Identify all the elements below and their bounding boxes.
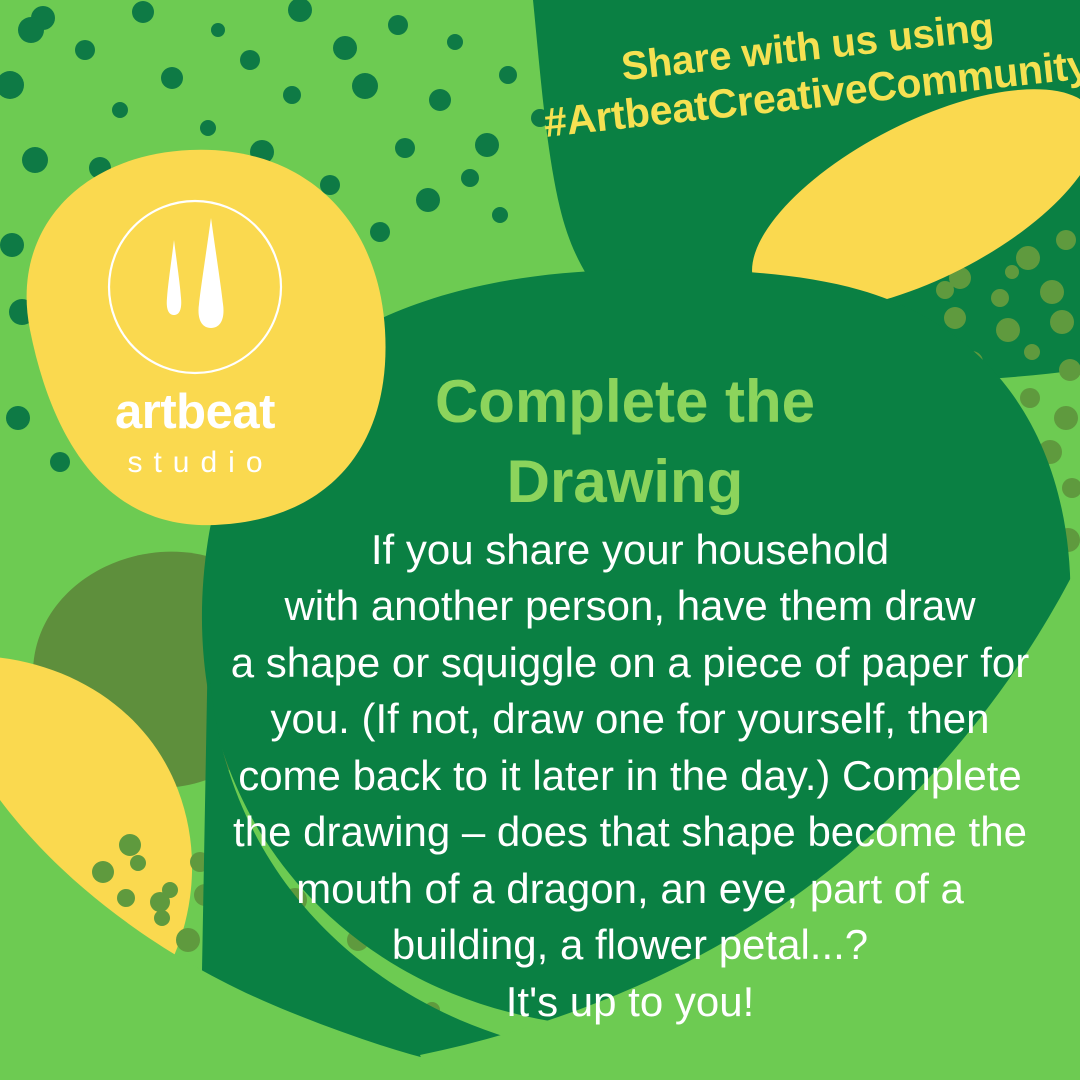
brush-tip-large	[199, 218, 224, 328]
page-title: Complete the Drawing	[330, 362, 920, 522]
brush-tip-small	[167, 240, 181, 315]
body-line: you. (If not, draw one for yourself, the…	[225, 691, 1035, 747]
logo-circle-outline	[109, 201, 281, 373]
page-title-line-1: Complete the	[330, 362, 920, 442]
body-line: If you share your household	[225, 522, 1035, 578]
share-hashtag-block: Share with us using #ArtbeatCreativeComm…	[536, 0, 1080, 148]
body-line: the drawing – does that shape become the	[225, 804, 1035, 860]
body-line: come back to it later in the day.) Compl…	[225, 748, 1035, 804]
brush-tips-icon	[106, 198, 284, 376]
body-line: building, a flower petal...?	[225, 917, 1035, 973]
text-layer: Share with us using #ArtbeatCreativeComm…	[0, 0, 1080, 1080]
body-line: with another person, have them draw	[225, 578, 1035, 634]
logo-subword: studio	[80, 448, 310, 478]
logo-wordmark: artbeat	[80, 388, 310, 437]
body-line: a shape or squiggle on a piece of paper …	[225, 635, 1035, 691]
body-line: It's up to you!	[225, 974, 1035, 1030]
artbeat-studio-logo: artbeat studio	[80, 198, 310, 468]
body-copy: If you share your household with another…	[225, 522, 1035, 1030]
page-title-line-2: Drawing	[330, 442, 920, 522]
poster-canvas: Share with us using #ArtbeatCreativeComm…	[0, 0, 1080, 1080]
body-line: mouth of a dragon, an eye, part of a	[225, 861, 1035, 917]
